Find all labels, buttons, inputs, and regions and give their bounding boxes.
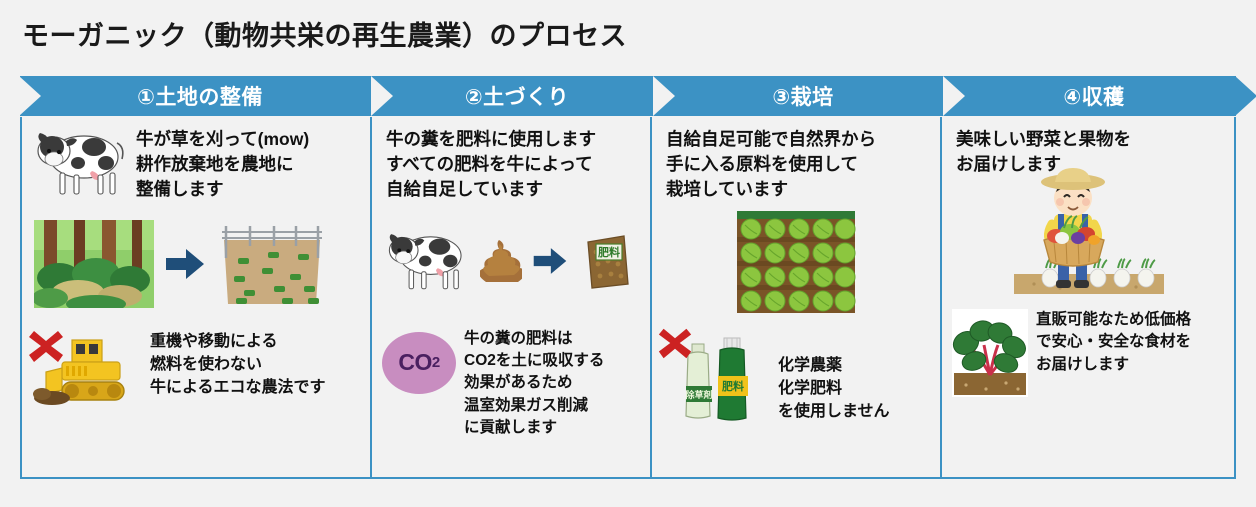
banner-step-3-label: ③栽培 [772, 81, 833, 111]
co2-badge-text: CO [398, 349, 432, 376]
step-2-bottom-block: CO2 牛の糞の肥料は CO2を土に吸収する 効果があるため 温室効果ガス削減 … [372, 320, 650, 440]
banner-step-4-label: ④収穫 [1063, 81, 1124, 111]
banner-step-3[interactable]: ③栽培 [654, 76, 944, 116]
step-2-middle-block: 肥料 [372, 202, 650, 320]
banner-step-4[interactable]: ④収穫 [944, 76, 1236, 116]
process-step-banner: ①土地の整備 ②土づくり ③栽培 ④収穫 [20, 76, 1236, 116]
bottle-label-fertilizer: 肥料 [722, 379, 744, 393]
step-4-bottom-text: 直販可能なため低価格 で安心・安全な食材を お届けします [1036, 309, 1191, 376]
chevron-notch-icon [943, 76, 965, 116]
chevron-notch-icon [371, 76, 393, 116]
page-title: モーガニック（動物共栄の再生農業）のプロセス [22, 14, 627, 53]
process-detail-panel: 牛が草を刈って(mow) 耕作放棄地を農地に 整備します [20, 117, 1236, 479]
farmer-with-vegetables-image [1000, 162, 1176, 307]
step-1-bottom-block: 重機や移動による 燃料を使わない 牛によるエコな農法です [22, 322, 370, 413]
step-1-top-text: 牛が草を刈って(mow) 耕作放棄地を農地に 整備します [136, 127, 309, 202]
chevron-point-icon [1235, 76, 1256, 116]
fertilizer-bag-label: 肥料 [598, 245, 620, 259]
step-3-top-block: 自給自足可能で自然界から 手に入る原料を使用して 栽培しています [652, 117, 940, 202]
overgrown-forest-image [34, 220, 154, 313]
step-1-bottom-text: 重機や移動による 燃料を使わない 牛によるエコな農法です [150, 330, 326, 400]
banner-step-2-label: ②土づくり [465, 81, 569, 111]
right-arrow-icon [164, 246, 206, 287]
step-1-column: 牛が草を刈って(mow) 耕作放棄地を農地に 整備します [22, 117, 372, 477]
bulldozer-icon [32, 330, 142, 413]
manure-icon [480, 236, 522, 291]
cow-icon [384, 228, 470, 299]
step-3-column: 自給自足可能で自然界から 手に入る原料を使用して 栽培しています [652, 117, 942, 477]
banner-step-2[interactable]: ②土づくり [372, 76, 654, 116]
bottle-label-herbicide: 除草剤 [685, 389, 712, 400]
step-2-column: 牛の糞を肥料に使用します すべての肥料を牛によって 自給自足しています [372, 117, 652, 477]
beet-plant-image [952, 309, 1028, 402]
chemical-bottles-icon: 除草剤 肥料 [662, 328, 770, 429]
co2-badge-subscript: 2 [432, 354, 440, 371]
fertilizer-bag-icon: 肥料 [578, 230, 634, 297]
step-2-bottom-text: 牛の糞の肥料は CO2を土に吸収する 効果があるため 温室効果ガス削減 に貢献し… [464, 328, 604, 440]
step-3-bottom-text: 化学農薬 化学肥料 を使用しません [778, 328, 890, 424]
step-3-bottom-block: 除草剤 肥料 化学農薬 化学肥料 を使用しません [652, 320, 940, 429]
cow-icon [32, 127, 128, 204]
step-2-top-block: 牛の糞を肥料に使用します すべての肥料を牛によって 自給自足しています [372, 117, 650, 202]
red-x-icon [26, 326, 66, 371]
step-3-middle-block [652, 202, 940, 320]
step-4-column: 美味しい野菜と果物を お届けします [942, 117, 1234, 477]
red-x-icon [656, 324, 694, 367]
chevron-notch-icon [19, 76, 41, 116]
banner-step-1[interactable]: ①土地の整備 [20, 76, 372, 116]
step-3-top-text: 自給自足可能で自然界から 手に入る原料を使用して 栽培しています [666, 127, 876, 202]
right-arrow-icon [532, 245, 568, 282]
chevron-notch-icon [653, 76, 675, 116]
co2-badge: CO2 [382, 332, 456, 394]
step-4-bottom-block: 直販可能なため低価格 で安心・安全な食材を お届けします [942, 301, 1234, 402]
step-4-middle-block [942, 163, 1234, 301]
step-1-middle-block [22, 204, 370, 322]
step-2-top-text: 牛の糞を肥料に使用します すべての肥料を牛によって 自給自足しています [386, 127, 596, 202]
cabbage-field-image [735, 207, 857, 320]
banner-step-1-label: ①土地の整備 [137, 81, 263, 111]
cleared-farmland-image [216, 218, 328, 315]
step-1-top-block: 牛が草を刈って(mow) 耕作放棄地を農地に 整備します [22, 117, 370, 204]
